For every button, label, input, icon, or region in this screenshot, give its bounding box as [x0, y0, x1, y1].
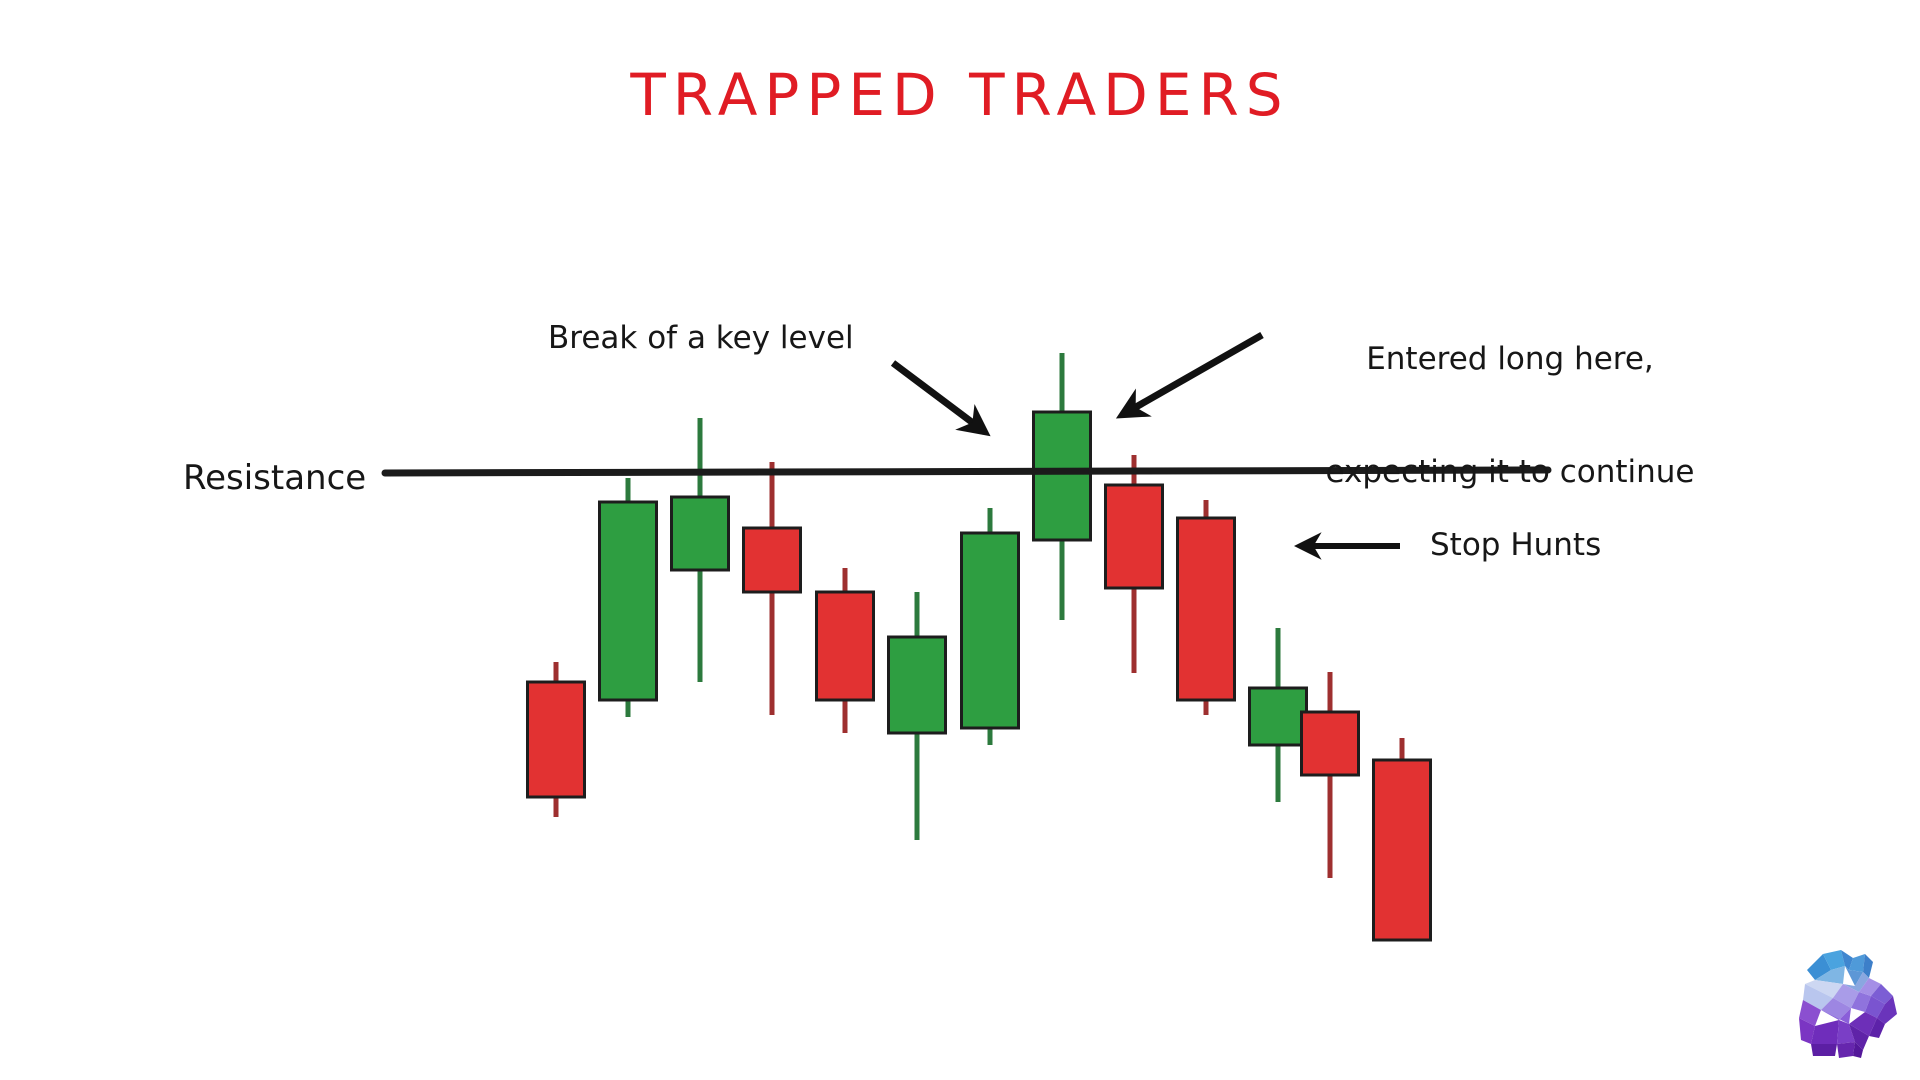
bull-logo-shape	[1799, 950, 1897, 1058]
candlestick	[962, 508, 1019, 745]
candle-body	[1374, 760, 1431, 940]
candle-body	[672, 497, 729, 570]
candles-group	[528, 353, 1431, 940]
resistance-label: Resistance	[183, 458, 366, 499]
candlestick	[528, 662, 585, 817]
candlestick	[1374, 738, 1431, 940]
entered-long-annotation: Entered long here, expecting it to conti…	[1315, 265, 1705, 568]
candlestick	[744, 462, 801, 715]
candlestick	[600, 478, 657, 717]
candle-body	[817, 592, 874, 700]
break-of-key-level-arrow	[893, 363, 985, 432]
candlestick	[889, 592, 946, 840]
break-of-key-level-annotation: Break of a key level	[548, 320, 854, 358]
bull-logo	[1793, 940, 1903, 1060]
candle-body	[528, 682, 585, 797]
candlestick	[1034, 353, 1091, 620]
candlestick	[817, 568, 874, 733]
candle-body	[1302, 712, 1359, 775]
candle-body	[1106, 485, 1163, 588]
candle-body	[600, 502, 657, 700]
entered-long-arrow	[1122, 335, 1262, 415]
entered-long-line-1: Entered long here,	[1315, 341, 1705, 379]
candle-body	[1178, 518, 1235, 700]
chart-canvas: TRAPPED TRADERS Resistance Break of a ke…	[0, 0, 1920, 1080]
candlestick	[672, 418, 729, 682]
candlestick	[1250, 628, 1307, 802]
candlestick	[1178, 500, 1235, 715]
stop-hunts-label: Stop Hunts	[1430, 527, 1601, 565]
candle-body	[1250, 688, 1307, 745]
candle-body	[744, 528, 801, 592]
candle-body	[1034, 412, 1091, 540]
candle-body	[889, 637, 946, 733]
candlestick	[1106, 455, 1163, 673]
entered-long-line-2: expecting it to continue	[1315, 454, 1705, 492]
candle-body	[962, 533, 1019, 728]
candlestick	[1302, 672, 1359, 878]
